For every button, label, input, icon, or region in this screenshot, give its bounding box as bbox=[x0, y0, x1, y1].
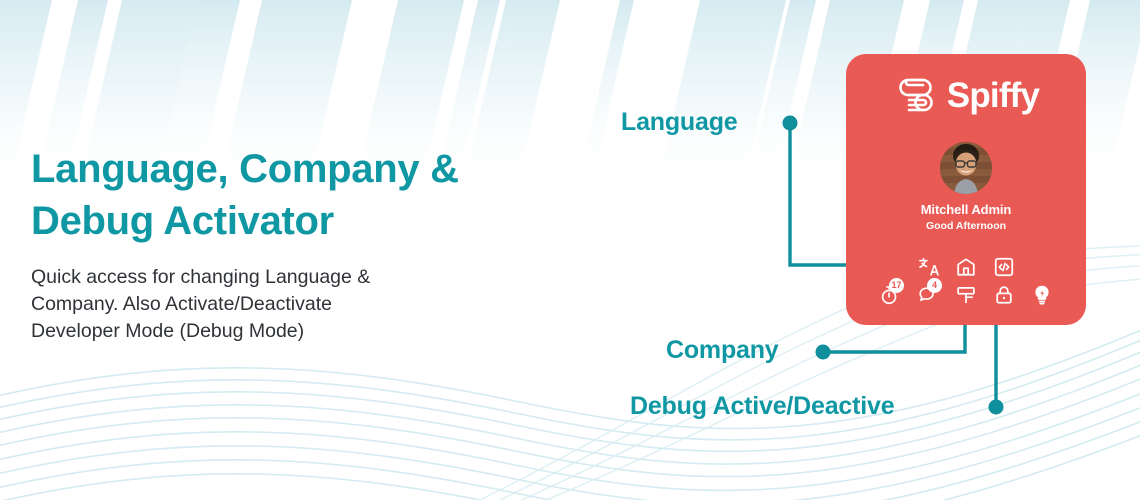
connector-dot-debug bbox=[989, 400, 1004, 415]
card-icon-row-primary bbox=[846, 256, 1086, 278]
presentation-board-icon[interactable] bbox=[955, 284, 977, 306]
messages-chat-icon[interactable]: 4 bbox=[917, 284, 939, 306]
user-greeting: Good Afternoon bbox=[846, 220, 1086, 232]
brand-name: Spiffy bbox=[947, 78, 1039, 113]
card-icon-row-secondary: 17 4 bbox=[846, 284, 1086, 306]
user-avatar-photo bbox=[940, 142, 992, 194]
translate-language-icon[interactable] bbox=[917, 256, 939, 278]
brand-logo: Spiffy bbox=[846, 71, 1086, 119]
debug-code-icon[interactable] bbox=[993, 256, 1015, 278]
spiffy-s-logo-icon bbox=[893, 73, 939, 117]
company-building-icon[interactable] bbox=[955, 256, 977, 278]
promo-banner: Language, Company & Debug Activator Quic… bbox=[0, 0, 1140, 500]
lock-icon[interactable] bbox=[993, 284, 1015, 306]
connector-dot-language bbox=[783, 116, 798, 131]
lightbulb-idea-icon[interactable] bbox=[1031, 284, 1053, 306]
spiffy-user-card: Spiffy Mitchell Admin Good Afternoon bbox=[846, 54, 1086, 325]
messages-badge-count: 4 bbox=[927, 278, 942, 293]
callout-label-company: Company bbox=[666, 336, 779, 365]
avatar bbox=[940, 142, 992, 194]
timer-activity-icon[interactable]: 17 bbox=[879, 284, 901, 306]
connector-dot-company bbox=[816, 345, 831, 360]
callout-label-debug: Debug Active/Deactive bbox=[630, 392, 894, 421]
timer-badge-count: 17 bbox=[889, 278, 904, 293]
user-name: Mitchell Admin bbox=[846, 202, 1086, 217]
callout-label-language: Language bbox=[621, 108, 737, 137]
